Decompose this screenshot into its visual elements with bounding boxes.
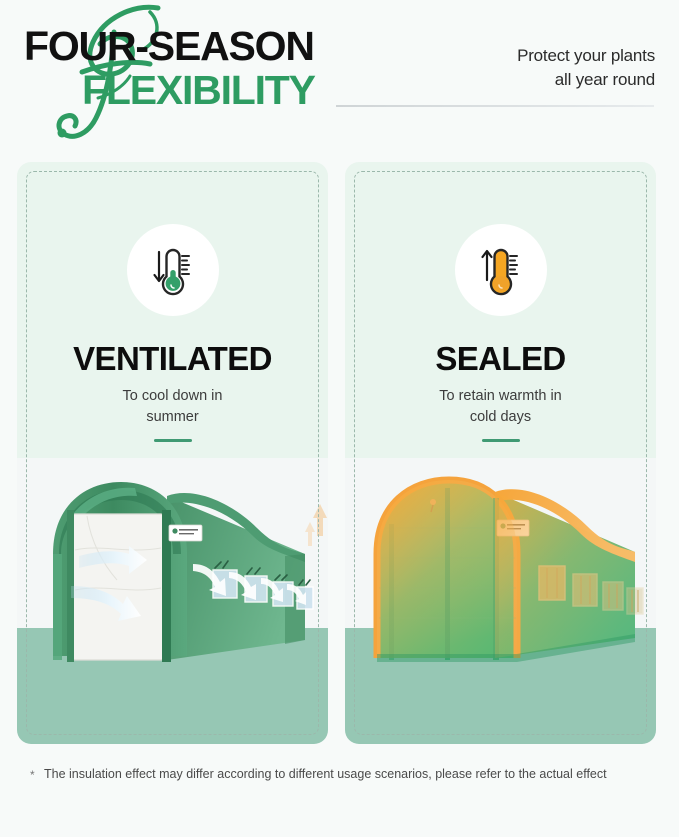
tagline-line-2: all year round [517,68,655,92]
card-divider-sealed [482,439,520,442]
subtitle-line-2: summer [146,409,198,425]
page-footer: * The insulation effect may differ accor… [0,744,679,837]
header-divider-rule [336,105,654,107]
page-title-primary: FOUR-SEASON [24,26,315,68]
feature-card-ventilated[interactable]: VENTILATED To cool down in summer [17,162,328,744]
card-subtitle-ventilated: To cool down in summer [17,386,328,428]
card-title-ventilated: VENTILATED [17,340,328,378]
greenhouse-closed-sealed [345,458,656,744]
footnote-text: The insulation effect may differ accordi… [44,767,607,781]
heat-escape-arrows [305,504,327,546]
greenhouse-illustration-sealed [345,458,656,744]
feature-cards-row: VENTILATED To cool down in summer [0,162,679,744]
subtitle-line-1: To retain warmth in [439,388,562,404]
card-subtitle-sealed: To retain warmth in cold days [345,386,656,428]
subtitle-line-2: cold days [470,409,531,425]
subtitle-line-1: To cool down in [123,388,223,404]
header-title-block: FOUR-SEASON FLEXIBILITY [24,26,315,112]
header-tagline: Protect your plants all year round [517,44,655,92]
footnote-marker: * [30,766,35,785]
page-title-secondary: FLEXIBILITY [82,70,315,112]
footnote-disclaimer: * The insulation effect may differ accor… [44,765,641,784]
greenhouse-illustration-open [17,458,328,744]
feature-card-sealed[interactable]: SEALED To retain warmth in cold days [345,162,656,744]
thermometer-down-icon [127,224,219,316]
brand-logo-badge [169,525,202,541]
greenhouse-open-ventilated [17,458,328,744]
tagline-line-1: Protect your plants [517,44,655,68]
card-divider-ventilated [154,439,192,442]
thermometer-up-icon [455,224,547,316]
page-header: FOUR-SEASON FLEXIBILITY Protect your pla… [0,0,679,150]
card-title-sealed: SEALED [345,340,656,378]
